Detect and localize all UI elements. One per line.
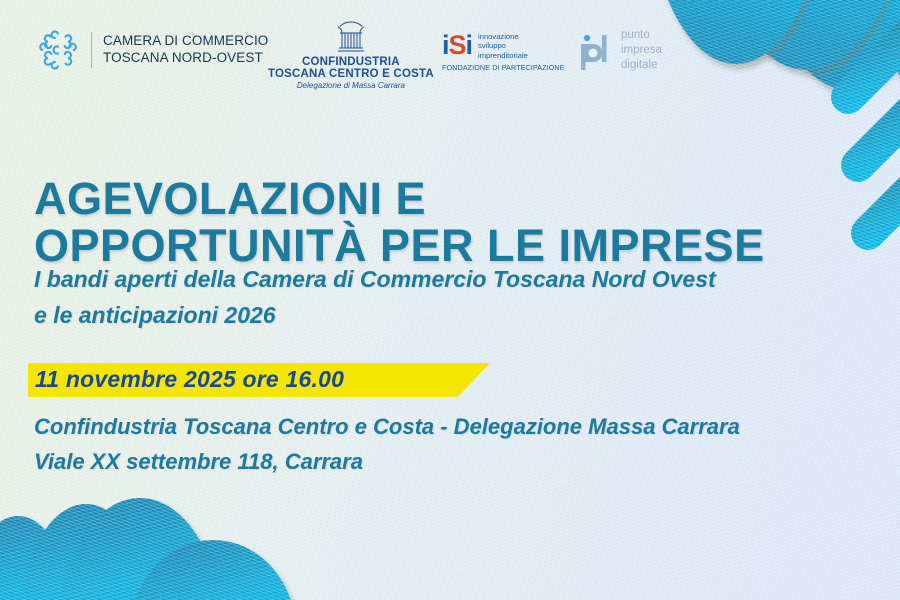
camera-commercio-rosette-icon [38, 30, 78, 70]
pid-line1: punto [621, 29, 650, 41]
isi-lockup: iSi innovazione sviluppo imprenditoriale [442, 32, 528, 60]
subtitle-line1: I bandi aperti della Camera di Commercio… [34, 262, 716, 298]
subtitle-line2: e le anticipazioni 2026 [34, 298, 716, 334]
logo-isi: iSi innovazione sviluppo imprenditoriale… [442, 32, 565, 72]
logo-camera-di-commercio: CAMERA DI COMMERCIO TOSCANA NORD-OVEST [38, 30, 268, 70]
isi-footer: FONDAZIONE DI PARTECIPAZIONE [442, 63, 565, 72]
isi-tag-line1: innovazione [478, 32, 519, 41]
event-poster: CAMERA DI COMMERCIO TOSCANA NORD-OVEST C… [0, 0, 900, 600]
pid-line2: impresa [621, 44, 662, 56]
isi-tag-line2: sviluppo [478, 41, 506, 50]
poster-headline: AGEVOLAZIONI E OPPORTUNITÀ PER LE IMPRES… [34, 175, 765, 270]
logo-punto-impresa-digitale: punto impresa digitale [578, 28, 662, 74]
logo-divider-rule [91, 32, 92, 68]
pid-line3: digitale [621, 59, 657, 71]
logo-confindustria: CONFINDUSTRIA TOSCANA CENTRO E COSTA Del… [268, 20, 434, 90]
camera-commercio-wordmark: CAMERA DI COMMERCIO TOSCANA NORD-OVEST [103, 33, 268, 66]
confindustria-crest-icon [332, 20, 370, 54]
pid-wordmark: punto impresa digitale [621, 28, 662, 74]
venue-line1: Confindustria Toscana Centro e Costa - D… [34, 409, 740, 444]
camera-commercio-line2: TOSCANA NORD-OVEST [103, 50, 263, 65]
poster-subtitle: I bandi aperti della Camera di Commercio… [34, 262, 716, 333]
event-venue: Confindustria Toscana Centro e Costa - D… [34, 409, 740, 479]
camera-commercio-line1: CAMERA DI COMMERCIO [103, 33, 268, 48]
venue-line2: Viale XX settembre 118, Carrara [34, 444, 740, 479]
pid-monogram-icon [578, 29, 612, 73]
headline-line1: AGEVOLAZIONI E [34, 175, 765, 222]
isi-tagline: innovazione sviluppo imprenditoriale [478, 32, 528, 60]
partner-logo-row: CAMERA DI COMMERCIO TOSCANA NORD-OVEST C… [0, 18, 700, 90]
event-datetime: 11 novembre 2025 ore 16.00 [28, 363, 344, 393]
confindustria-line3: Delegazione di Massa Carrara [297, 81, 405, 90]
isi-tag-line3: imprenditoriale [478, 51, 528, 60]
confindustria-line1: CONFINDUSTRIA [302, 56, 400, 68]
isi-wordmark: iSi [442, 32, 472, 59]
confindustria-line2: TOSCANA CENTRO E COSTA [268, 68, 434, 80]
event-datetime-block: 11 novembre 2025 ore 16.00 [28, 363, 344, 397]
